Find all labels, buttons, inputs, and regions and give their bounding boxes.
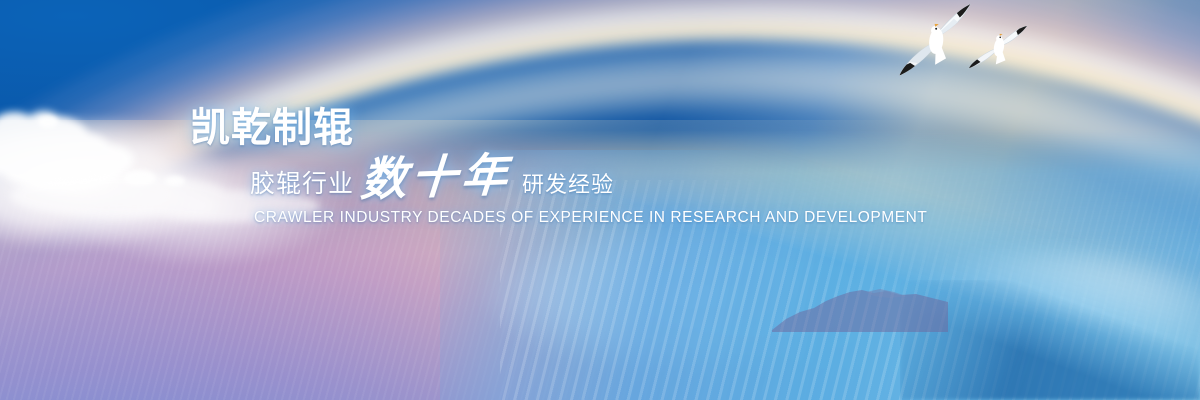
banner-copy: 凯乾制辊 胶辊行业 数十年 研发经验 CRAWLER INDUSTRY DECA… [190,108,890,227]
tagline-row: 胶辊行业 数十年 研发经验 [190,152,890,200]
tagline-prefix: 胶辊行业 [250,172,354,200]
distant-island-silhouette [770,286,950,332]
hero-banner: 凯乾制辊 胶辊行业 数十年 研发经验 CRAWLER INDUSTRY DECA… [0,0,1200,400]
english-tagline: CRAWLER INDUSTRY DECADES OF EXPERIENCE I… [190,209,890,227]
seagull-small [965,20,1033,74]
page-title: 凯乾制辊 [190,108,890,148]
tagline-highlight: 数十年 [359,151,513,202]
tagline-suffix: 研发经验 [522,174,614,200]
